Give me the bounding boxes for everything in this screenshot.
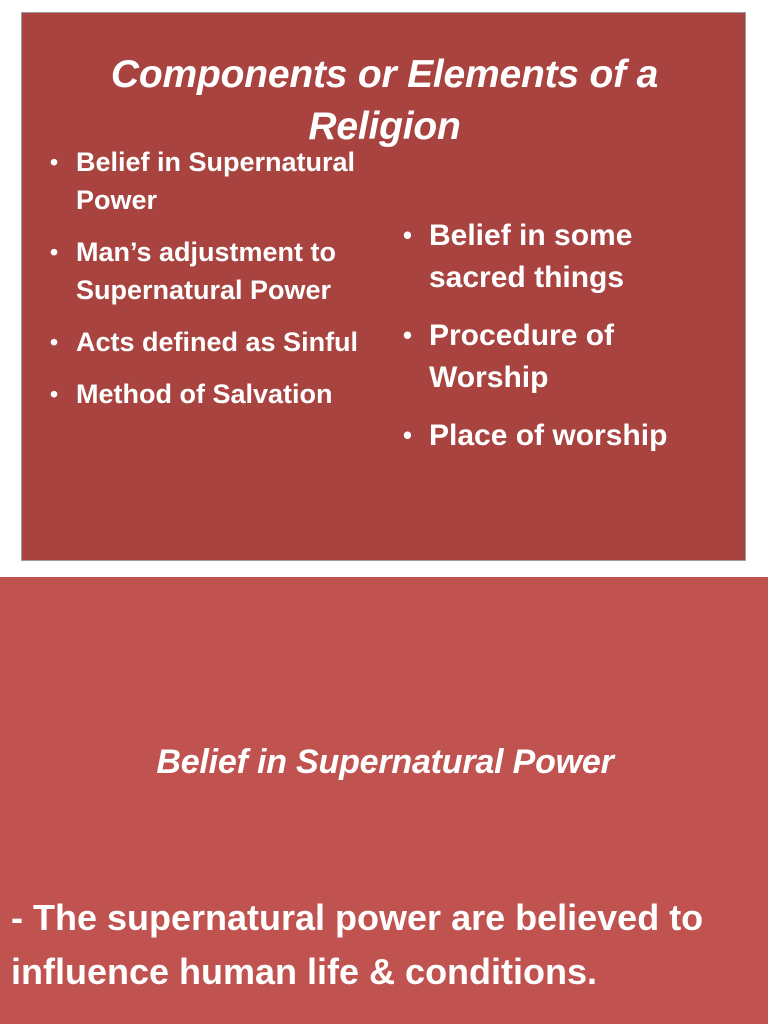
list-item: Place of worship <box>397 415 732 457</box>
slide-one-right-column: Belief in some sacred things Procedure o… <box>397 215 732 473</box>
bullet-text: Acts defined as Sinful <box>76 327 358 357</box>
slide-one-left-column: Belief in Supernatural Power Man’s adjus… <box>44 143 394 427</box>
bullet-text: Belief in Supernatural Power <box>76 147 355 215</box>
slide-one-title: Components or Elements of a Religion <box>52 49 717 153</box>
bullet-text: Man’s adjustment to Supernatural Power <box>76 237 336 305</box>
list-item: Procedure of Worship <box>397 315 732 399</box>
slide-components-of-religion: Components or Elements of a Religion Bel… <box>21 12 746 561</box>
left-bullet-list: Belief in Supernatural Power Man’s adjus… <box>44 143 394 413</box>
slide-two-title: Belief in Supernatural Power <box>40 740 730 784</box>
list-item: Acts defined as Sinful <box>44 323 394 361</box>
list-item: Method of Salvation <box>44 375 394 413</box>
list-item: Man’s adjustment to Supernatural Power <box>44 233 394 309</box>
list-item: Belief in some sacred things <box>397 215 732 299</box>
bullet-text: Place of worship <box>429 419 667 452</box>
right-bullet-list: Belief in some sacred things Procedure o… <box>397 215 732 457</box>
bullet-text: Method of Salvation <box>76 379 333 409</box>
list-item: Belief in Supernatural Power <box>44 143 394 219</box>
slide-two-body-text: - The supernatural power are believed to… <box>11 891 759 999</box>
bullet-text: Procedure of Worship <box>429 319 614 394</box>
bullet-text: Belief in some sacred things <box>429 219 632 294</box>
